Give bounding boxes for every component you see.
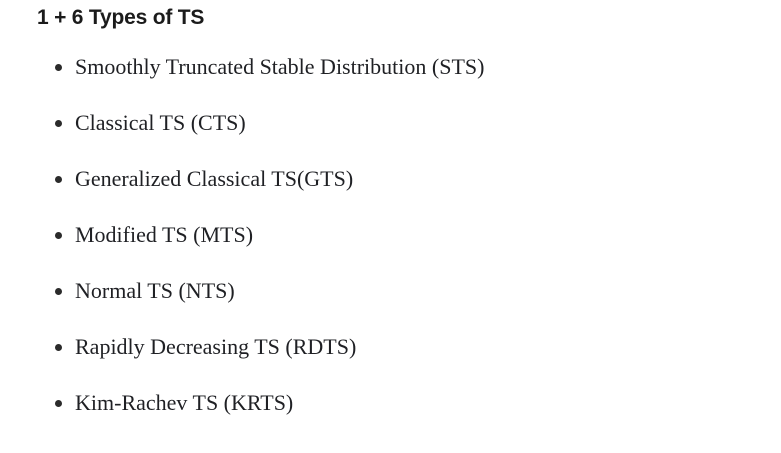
list-item-label: Classical TS (CTS)	[75, 102, 246, 144]
list-item-label: Normal TS (NTS)	[75, 270, 235, 312]
bullet-icon	[55, 102, 62, 144]
list-item: Kim-Rachev TS (KRTS)	[0, 382, 781, 438]
list-item: Modified TS (MTS)	[0, 214, 781, 270]
bullet-icon	[55, 270, 62, 312]
bullet-icon	[55, 158, 62, 200]
list-item-label: Smoothly Truncated Stable Distribution (…	[75, 46, 484, 88]
page-title: 1 + 6 Types of TS	[37, 4, 204, 32]
bullet-icon	[55, 214, 62, 256]
list-item-label: Modified TS (MTS)	[75, 214, 253, 256]
bullet-icon	[55, 326, 62, 368]
list-item-label: Rapidly Decreasing TS (RDTS)	[75, 326, 356, 368]
list-item: Classical TS (CTS)	[0, 102, 781, 158]
list-item-label: Generalized Classical TS(GTS)	[75, 158, 353, 200]
bullet-icon	[55, 46, 62, 88]
ts-types-list: Smoothly Truncated Stable Distribution (…	[0, 46, 781, 438]
bullet-icon	[55, 382, 62, 424]
list-item: Rapidly Decreasing TS (RDTS)	[0, 326, 781, 382]
list-item: Generalized Classical TS(GTS)	[0, 158, 781, 214]
slide-root: 1 + 6 Types of TS Smoothly Truncated Sta…	[0, 0, 781, 453]
list-item: Normal TS (NTS)	[0, 270, 781, 326]
list-item: Smoothly Truncated Stable Distribution (…	[0, 46, 781, 102]
list-item-label: Kim-Rachev TS (KRTS)	[75, 382, 293, 424]
